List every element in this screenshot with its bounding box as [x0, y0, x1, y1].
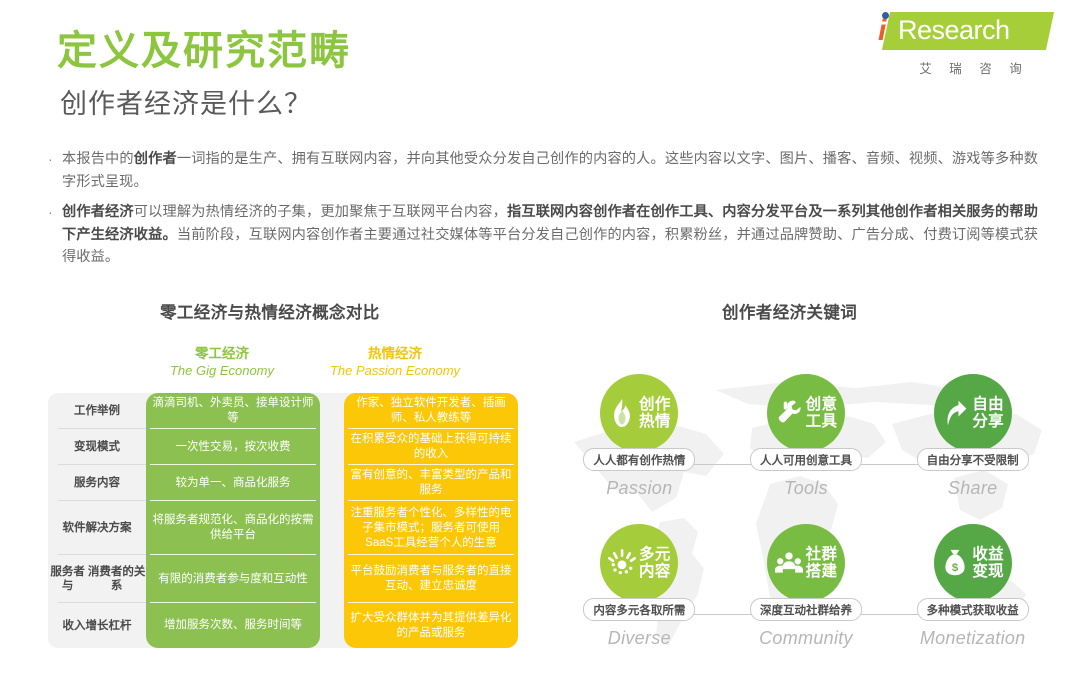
- keyword-diagram: 创作热情人人都有创作热情Passion创意工具人人可用创意工具Tools自由分享…: [556, 372, 1056, 672]
- comparison-grid: 工作举例滴滴司机、外卖员、接单设计师等作家、独立软件开发者、插画师、私人教练等变…: [48, 393, 518, 648]
- wrench-icon: [775, 398, 803, 428]
- keyword-circle: 创作热情: [600, 374, 678, 452]
- logo-wordmark: Research: [898, 15, 1010, 46]
- logo-letter-i: i: [878, 14, 886, 48]
- slide-page: i Research 艾 瑞 咨 询 定义及研究范畴 创作者经济是什么？ · 本…: [0, 0, 1080, 688]
- sunburst-icon: [608, 548, 636, 578]
- cell-gig: 有限的消费者参与度和互动性: [146, 555, 320, 603]
- bullet-text: 创作者经济可以理解为热情经济的子集，更加聚焦于互联网平台内容，指互联网内容创作者…: [62, 201, 1038, 269]
- row-label: 收入增长杠杆: [48, 603, 146, 648]
- flame-icon: [608, 398, 636, 428]
- keyword-pill: 人人都有创作热情: [583, 448, 695, 471]
- logo-dot-icon: [882, 12, 889, 19]
- row-label: 变现模式: [48, 429, 146, 465]
- iresearch-logo: i Research 艾 瑞 咨 询: [868, 10, 1058, 77]
- keyword-pill: 自由分享不受限制: [917, 448, 1029, 471]
- column-gap: [320, 429, 344, 465]
- keyword-item-share[interactable]: 自由分享自由分享不受限制Share: [889, 372, 1056, 522]
- cell-passion: 作家、独立软件开发者、插画师、私人教练等: [344, 393, 518, 429]
- arrow-up-right-icon: [941, 398, 969, 428]
- keyword-circle: 社群搭建: [767, 524, 845, 602]
- bullet-dot-icon: ·: [48, 201, 62, 269]
- cell-passion: 注重服务者个性化、多样性的电子集市模式；服务者可使用SaaS工具经营个人的生意: [344, 501, 518, 555]
- keyword-label-cn: 创作热情: [639, 396, 671, 431]
- keyword-label-en: Community: [759, 628, 853, 649]
- keyword-item-diverse[interactable]: 多元内容内容多元各取所需Diverse: [556, 522, 723, 672]
- keyword-circle: 自由分享: [934, 374, 1012, 452]
- comparison-headers: 零工经济 The Gig Economy 热情经济 The Passion Ec…: [48, 345, 518, 393]
- keyword-item-passion[interactable]: 创作热情人人都有创作热情Passion: [556, 372, 723, 522]
- logo-chinese-name: 艾 瑞 咨 询: [868, 58, 1058, 77]
- column-header-passion-cn: 热情经济: [320, 345, 470, 362]
- keyword-label-en: Share: [948, 478, 998, 499]
- row-label: 服务者与消费者的关系: [48, 555, 146, 603]
- keyword-label-en: Diverse: [608, 628, 671, 649]
- left-section-title: 零工经济与热情经济概念对比: [160, 299, 380, 323]
- cell-gig: 滴滴司机、外卖员、接单设计师等: [146, 393, 320, 429]
- keyword-pill: 人人可用创意工具: [750, 448, 862, 471]
- keyword-label-en: Passion: [606, 478, 672, 499]
- column-header-passion: 热情经济 The Passion Economy: [320, 345, 470, 379]
- bullet-item: · 创作者经济可以理解为热情经济的子集，更加聚焦于互联网平台内容，指互联网内容创…: [48, 201, 1038, 269]
- keyword-item-community[interactable]: 社群搭建深度互动社群给养Community: [723, 522, 890, 672]
- keyword-circle: 创意工具: [767, 374, 845, 452]
- cell-gig: 一次性交易，按次收费: [146, 429, 320, 465]
- keyword-circle: 多元内容: [600, 524, 678, 602]
- row-label: 软件解决方案: [48, 501, 146, 555]
- keyword-label-cn: 自由分享: [972, 396, 1004, 431]
- cell-gig: 较为单一、商品化服务: [146, 465, 320, 501]
- right-section-title: 创作者经济关键词: [722, 299, 857, 323]
- keyword-label-cn: 多元内容: [639, 546, 671, 581]
- keyword-pill: 内容多元各取所需: [583, 598, 695, 621]
- people-icon: [775, 548, 803, 578]
- cell-passion: 在积累受众的基础上获得可持续的收入: [344, 429, 518, 465]
- column-header-gig-en: The Gig Economy: [147, 362, 297, 379]
- keyword-item-tools[interactable]: 创意工具人人可用创意工具Tools: [723, 372, 890, 522]
- column-gap: [320, 465, 344, 501]
- cell-passion: 富有创意的、丰富类型的产品和服务: [344, 465, 518, 501]
- column-gap: [320, 555, 344, 603]
- keyword-label-cn: 收益变现: [972, 546, 1004, 581]
- column-header-gig: 零工经济 The Gig Economy: [147, 345, 297, 379]
- cell-gig: 将服务者规范化、商品化的按需供给平台: [146, 501, 320, 555]
- keyword-item-monetization[interactable]: $收益变现多种模式获取收益Monetization: [889, 522, 1056, 672]
- page-title: 定义及研究范畴: [57, 18, 351, 76]
- bullet-dot-icon: ·: [48, 148, 62, 193]
- column-gap: [320, 501, 344, 555]
- svg-text:$: $: [952, 562, 959, 574]
- keyword-grid: 创作热情人人都有创作热情Passion创意工具人人可用创意工具Tools自由分享…: [556, 372, 1056, 672]
- page-subtitle: 创作者经济是什么？: [60, 82, 312, 121]
- keyword-label-en: Tools: [784, 478, 828, 499]
- cell-passion: 平台鼓励消费者与服务者的直接互动、建立忠诚度: [344, 555, 518, 603]
- bullet-item: · 本报告中的创作者一词指的是生产、拥有互联网内容，并向其他受众分发自己创作的内…: [48, 148, 1038, 193]
- keyword-pill: 深度互动社群给养: [750, 598, 862, 621]
- money-bag-icon: $: [941, 548, 969, 578]
- cell-passion: 扩大受众群体并为其提供差异化的产品或服务: [344, 603, 518, 648]
- column-gap: [320, 603, 344, 648]
- comparison-panel: 工作举例滴滴司机、外卖员、接单设计师等作家、独立软件开发者、插画师、私人教练等变…: [48, 393, 518, 648]
- body-text: · 本报告中的创作者一词指的是生产、拥有互联网内容，并向其他受众分发自己创作的内…: [48, 148, 1038, 277]
- bullet-text: 本报告中的创作者一词指的是生产、拥有互联网内容，并向其他受众分发自己创作的内容的…: [62, 148, 1038, 193]
- column-header-passion-en: The Passion Economy: [320, 362, 470, 379]
- keyword-label-en: Monetization: [920, 628, 1026, 649]
- keyword-label-cn: 社群搭建: [806, 546, 838, 581]
- column-header-gig-cn: 零工经济: [147, 345, 297, 362]
- row-label: 服务内容: [48, 465, 146, 501]
- cell-gig: 增加服务次数、服务时间等: [146, 603, 320, 648]
- comparison-table: 零工经济 The Gig Economy 热情经济 The Passion Ec…: [48, 345, 518, 648]
- logo-mark: i Research: [868, 10, 1058, 52]
- column-gap: [320, 393, 344, 429]
- keyword-pill: 多种模式获取收益: [917, 598, 1029, 621]
- row-label: 工作举例: [48, 393, 146, 429]
- keyword-circle: $收益变现: [934, 524, 1012, 602]
- keyword-label-cn: 创意工具: [806, 396, 838, 431]
